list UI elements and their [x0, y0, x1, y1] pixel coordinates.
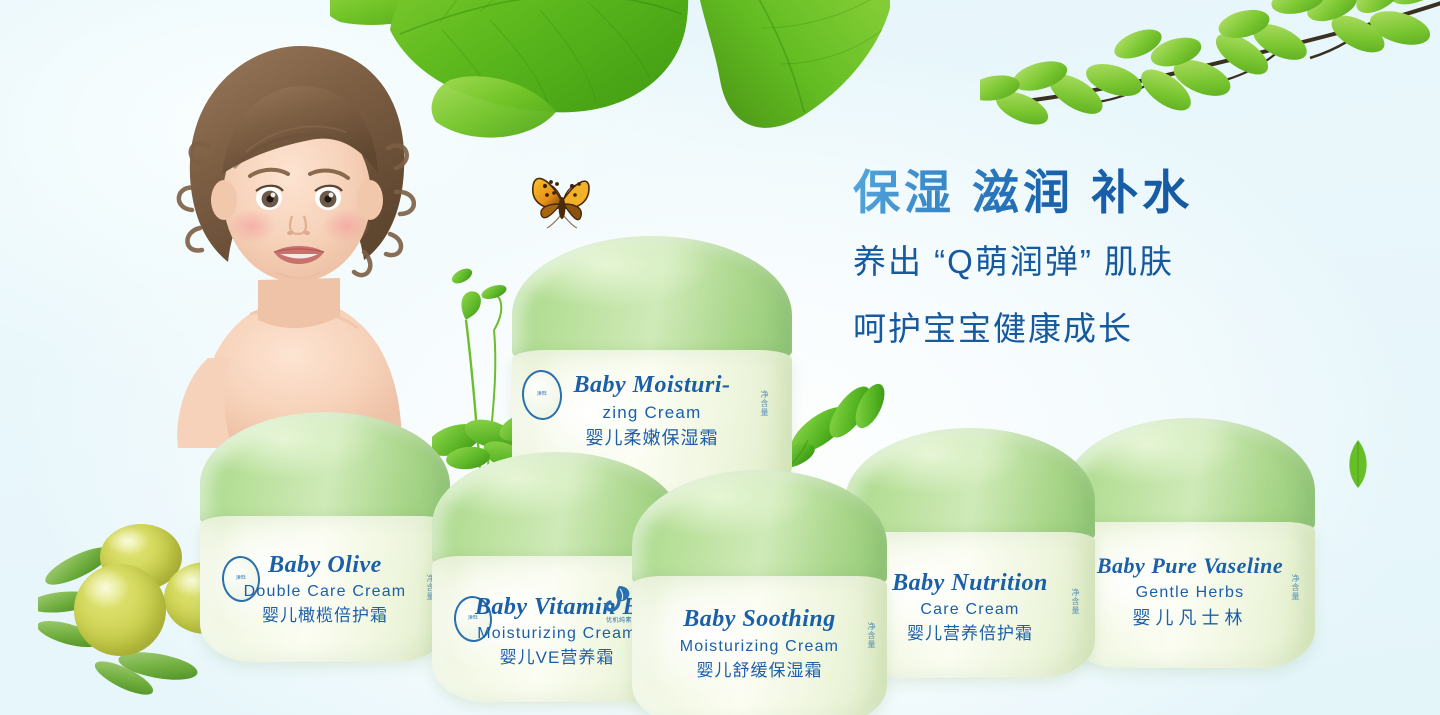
product-name-cn: 婴儿凡士林: [1065, 607, 1315, 630]
product-subtitle-en: Double Care Cream: [200, 582, 450, 602]
jar-lid: [632, 470, 887, 590]
promo-banner: 津旺 Baby Olive Double Care Cream 婴儿橄榄倍护霜 …: [0, 0, 1440, 715]
product-subtitle-en: zing Cream: [512, 402, 792, 423]
jar-label: Baby Soothing Moisturizing Cream 婴儿舒缓保湿霜: [632, 604, 887, 681]
jar-label: Baby Olive Double Care Cream 婴儿橄榄倍护霜: [200, 550, 450, 626]
jar-label: Baby Moisturi- zing Cream 婴儿柔嫩保湿霜: [512, 370, 792, 450]
product-name-en: Baby Moisturi-: [512, 370, 792, 400]
olive-front: [74, 564, 166, 656]
net-weight: 净含量: [759, 390, 770, 417]
product-name-cn: 婴儿舒缓保湿霜: [632, 660, 887, 681]
headline-sub2: 呵护宝宝健康成长: [853, 302, 1323, 350]
headline-block: 保湿 滋润 补水 养出 “Q萌润弹” 肌肤 呵护宝宝健康成长: [853, 168, 1323, 350]
net-weight: 净含量: [1290, 574, 1301, 601]
leafy-branch: [980, 0, 1440, 170]
jar-lid: [512, 236, 792, 364]
product-subtitle-en: Gentle Herbs: [1065, 583, 1315, 603]
product-name-cn: 婴儿橄榄倍护霜: [200, 605, 450, 626]
jar-label: Baby Pure Vaseline Gentle Herbs 婴儿凡士林: [1065, 552, 1315, 629]
net-weight: 净含量: [1070, 588, 1081, 615]
product-name-cn: 婴儿柔嫩保湿霜: [512, 427, 792, 450]
product-subtitle-en: Moisturizing Cream: [632, 637, 887, 657]
baby-photo: [150, 28, 440, 448]
headline-main: 保湿 滋润 补水: [853, 168, 1323, 217]
product-name-en: Baby Soothing: [632, 604, 887, 634]
jar-lid: [200, 412, 450, 530]
product-jar-baby-soothing[interactable]: 优机纯素 Baby Soothing Moisturizing Cream 婴儿…: [632, 470, 887, 715]
product-jar-baby-olive[interactable]: 津旺 Baby Olive Double Care Cream 婴儿橄榄倍护霜 …: [200, 412, 450, 664]
product-name-en: Baby Olive: [200, 550, 450, 580]
jar-lid: [1065, 418, 1315, 536]
product-name-en: Baby Pure Vaseline: [1065, 552, 1315, 580]
butterfly-icon: [527, 158, 599, 230]
single-leaf: [1345, 440, 1371, 490]
product-jar-baby-pure-vaseline[interactable]: Baby Pure Vaseline Gentle Herbs 婴儿凡士林 净含…: [1065, 418, 1315, 670]
headline-sub1: 养出 “Q萌润弹” 肌肤: [853, 235, 1323, 283]
net-weight: 净含量: [866, 622, 877, 649]
